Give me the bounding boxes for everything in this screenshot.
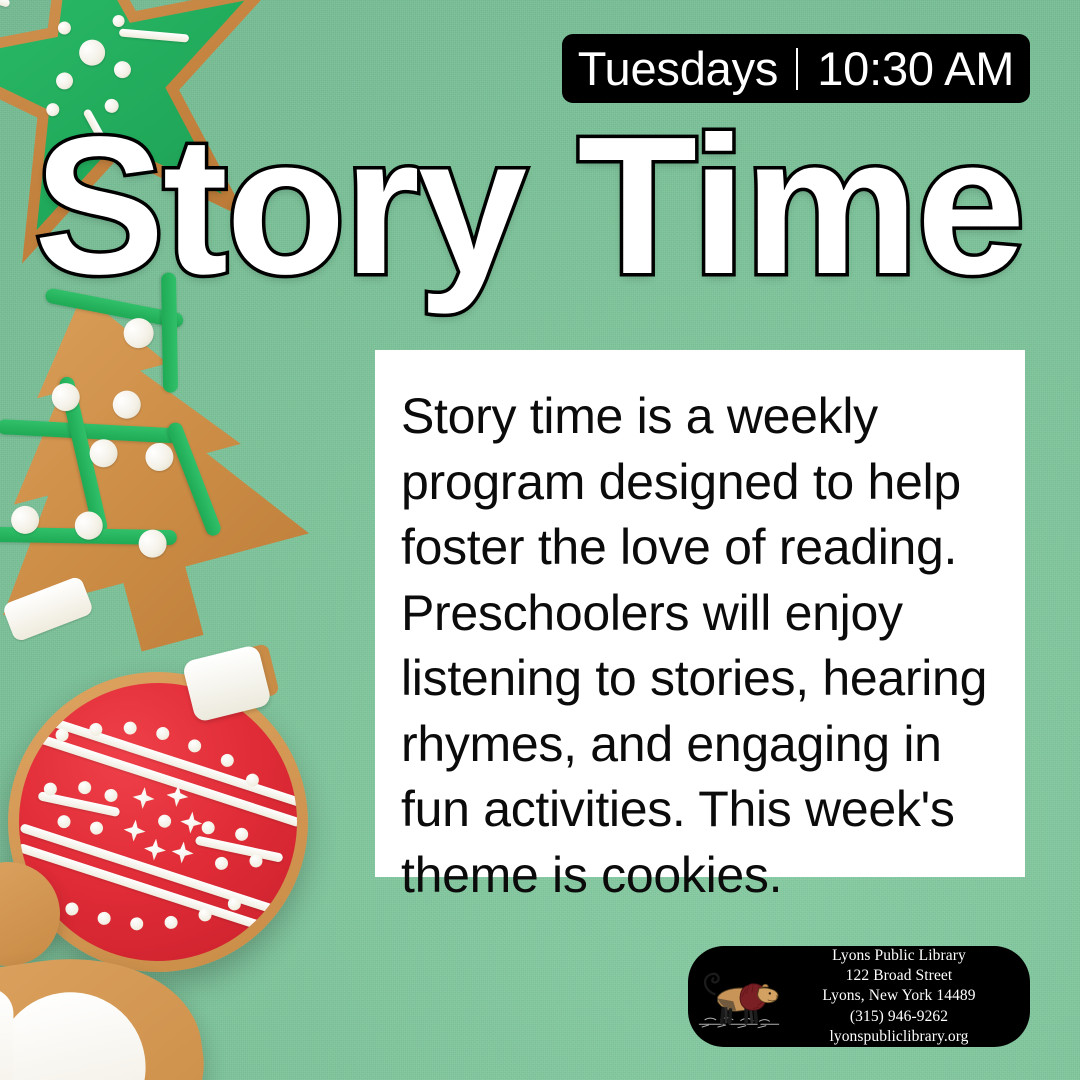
lion-logo-icon — [696, 960, 782, 1034]
schedule-day-label: Tuesdays — [578, 45, 796, 92]
icing-dot — [123, 721, 137, 735]
partial-gingerbread-cookie — [0, 941, 218, 1080]
icing-snowflake — [123, 819, 147, 843]
schedule-time-label: 10:30 AM — [798, 45, 1014, 92]
icing-dot — [77, 780, 91, 794]
ornament-stripe — [34, 733, 301, 827]
icing-snowflake — [132, 786, 156, 810]
icing-dot — [155, 727, 169, 741]
story-time-poster: Tuesdays 10:30 AM Story Time Story time … — [0, 0, 1080, 1080]
library-city-state-zip: Lyons, New York 14489 — [782, 986, 1016, 1006]
icing-dot — [64, 902, 78, 916]
icing-dot — [227, 896, 241, 910]
schedule-badge: Tuesdays 10:30 AM — [562, 34, 1030, 103]
icing-dot — [130, 917, 144, 931]
library-logo-badge: Lyons Public Library 122 Broad Street Ly… — [688, 946, 1030, 1047]
icing-dot — [164, 915, 178, 929]
icing-dot — [55, 727, 69, 741]
icing-dot — [201, 821, 215, 835]
icing-dot — [158, 814, 172, 828]
icing-dot — [104, 789, 118, 803]
page-title: Story Time — [34, 108, 1046, 304]
library-name: Lyons Public Library — [782, 946, 1016, 966]
icing-dot — [220, 753, 234, 767]
icing-branch — [0, 0, 10, 8]
icing-dot — [90, 821, 104, 835]
icing-dot — [188, 739, 202, 753]
description-text: Story time is a weekly program designed … — [401, 384, 995, 908]
icing-dot — [97, 911, 111, 925]
icing-dot — [215, 856, 229, 870]
icing-dot — [57, 814, 71, 828]
description-panel: Story time is a weekly program designed … — [375, 350, 1025, 877]
icing-snowflake — [171, 840, 195, 864]
icing-snowflake — [179, 810, 203, 834]
icing-dot — [248, 854, 262, 868]
library-contact-block: Lyons Public Library 122 Broad Street Ly… — [782, 946, 1016, 1047]
icing-dot — [234, 827, 248, 841]
library-website: lyonspubliclibrary.org — [782, 1027, 1016, 1047]
icing-snowflake — [143, 837, 167, 861]
library-phone: (315) 946-9262 — [782, 1007, 1016, 1027]
library-street: 122 Broad Street — [782, 966, 1016, 986]
